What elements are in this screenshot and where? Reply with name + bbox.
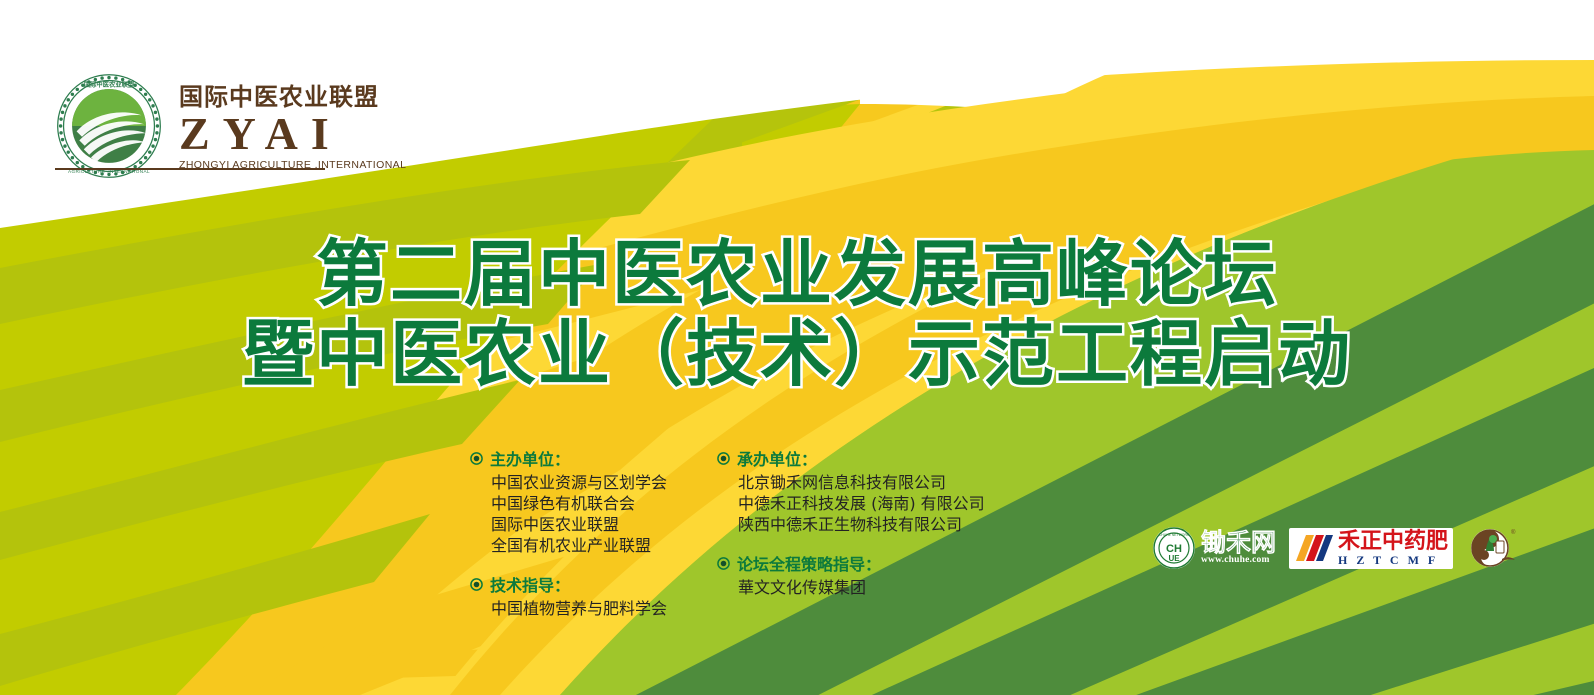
organiser-column-left: 主办单位： 中国农业资源与区划学会 中国绿色有机联合会 国际中医农业联盟 全国有…: [470, 446, 667, 620]
logo-name-cn: 国际中医农业联盟: [179, 85, 406, 109]
co-organiser-heading-text: 承办单位：: [737, 446, 817, 470]
zyai-logo-lockup: 国际中医农业联盟 AGRICULTURE .INTERNATIONAL 国际中医…: [55, 72, 406, 180]
strategy-guidance-heading-row: 论坛全程策略指导：: [717, 551, 985, 575]
list-item: 華文文化传媒集团: [738, 577, 985, 598]
bullet-ring-icon: [717, 452, 730, 465]
zyai-emblem-icon: 国际中医农业联盟 AGRICULTURE .INTERNATIONAL: [55, 72, 163, 180]
sponsor-chuhe[interactable]: CH UE CHUHE NETWORK 锄禾网 www.chuhe.com: [1152, 526, 1276, 570]
co-organiser-list: 北京锄禾网信息科技有限公司 中德禾正科技发展 (海南) 有限公司 陕西中德禾正生…: [717, 472, 985, 535]
zyai-wordmark: 国际中医农业联盟 ZYAI ZHONGYI AGRICULTURE ,INTER…: [179, 81, 406, 171]
registered-mark: ®: [1511, 529, 1516, 536]
chuhe-url: www.chuhe.com: [1201, 556, 1276, 566]
hzt-name-cn: 禾正中药肥: [1338, 531, 1448, 553]
list-item: 全国有机农业产业联盟: [491, 535, 667, 556]
strategy-guidance-heading-text: 论坛全程策略指导：: [737, 551, 881, 575]
svg-text:CHUHE NETWORK: CHUHE NETWORK: [1159, 533, 1190, 537]
technical-guidance-list: 中国植物营养与肥料学会: [470, 598, 667, 619]
bullet-ring-icon: [470, 578, 483, 591]
list-item: 中国绿色有机联合会: [491, 493, 667, 514]
list-item: 中德禾正科技发展 (海南) 有限公司: [738, 493, 985, 514]
co-organiser-heading-row: 承办单位：: [717, 446, 985, 470]
organiser-column-right: 承办单位： 北京锄禾网信息科技有限公司 中德禾正科技发展 (海南) 有限公司 陕…: [717, 446, 985, 620]
conference-banner: 国际中医农业联盟 AGRICULTURE .INTERNATIONAL 国际中医…: [0, 0, 1594, 695]
chuhe-seal-icon: CH UE CHUHE NETWORK: [1152, 526, 1196, 570]
chuhe-name-cn: 锄禾网: [1201, 530, 1276, 555]
sponsor-seedling[interactable]: ®: [1466, 525, 1518, 571]
bullet-ring-icon: [470, 452, 483, 465]
strategy-guidance-group: 论坛全程策略指导： 華文文化传媒集团: [717, 551, 985, 598]
bullet-ring-icon: [717, 557, 730, 570]
svg-text:UE: UE: [1168, 554, 1180, 563]
seedling-seal-icon: ®: [1466, 525, 1518, 571]
list-item: 陕西中德禾正生物科技有限公司: [738, 514, 985, 535]
organiser-info: 主办单位： 中国农业资源与区划学会 中国绿色有机联合会 国际中医农业联盟 全国有…: [470, 446, 985, 620]
organiser-heading-row: 主办单位：: [470, 446, 667, 470]
logo-acronym: ZYAI: [179, 111, 406, 157]
sponsor-logo-strip: CH UE CHUHE NETWORK 锄禾网 www.chuhe.com 禾正…: [1152, 525, 1518, 571]
list-item: 中国植物营养与肥料学会: [491, 598, 667, 619]
list-item: 北京锄禾网信息科技有限公司: [738, 472, 985, 493]
technical-guidance-heading-row: 技术指导：: [470, 572, 667, 596]
hzt-name-en: H Z T C M F: [1338, 554, 1448, 566]
sponsor-hzt[interactable]: 禾正中药肥 H Z T C M F: [1289, 528, 1453, 569]
organiser-group: 主办单位： 中国农业资源与区划学会 中国绿色有机联合会 国际中医农业联盟 全国有…: [470, 446, 667, 556]
technical-guidance-group: 技术指导： 中国植物营养与肥料学会: [470, 572, 667, 619]
list-item: 中国农业资源与区划学会: [491, 472, 667, 493]
organiser-list: 中国农业资源与区划学会 中国绿色有机联合会 国际中医农业联盟 全国有机农业产业联…: [470, 472, 667, 556]
hzt-wordmark: 禾正中药肥 H Z T C M F: [1338, 531, 1448, 566]
strategy-guidance-list: 華文文化传媒集团: [717, 577, 985, 598]
svg-text:国际中医农业联盟: 国际中医农业联盟: [84, 79, 135, 88]
hzt-ribbon-icon: [1294, 533, 1334, 563]
logo-underline-rule: [55, 168, 325, 170]
organiser-heading-text: 主办单位：: [490, 446, 570, 470]
chuhe-wordmark: 锄禾网 www.chuhe.com: [1201, 530, 1276, 566]
list-item: 国际中医农业联盟: [491, 514, 667, 535]
co-organiser-group: 承办单位： 北京锄禾网信息科技有限公司 中德禾正科技发展 (海南) 有限公司 陕…: [717, 446, 985, 535]
technical-guidance-heading-text: 技术指导：: [490, 572, 570, 596]
